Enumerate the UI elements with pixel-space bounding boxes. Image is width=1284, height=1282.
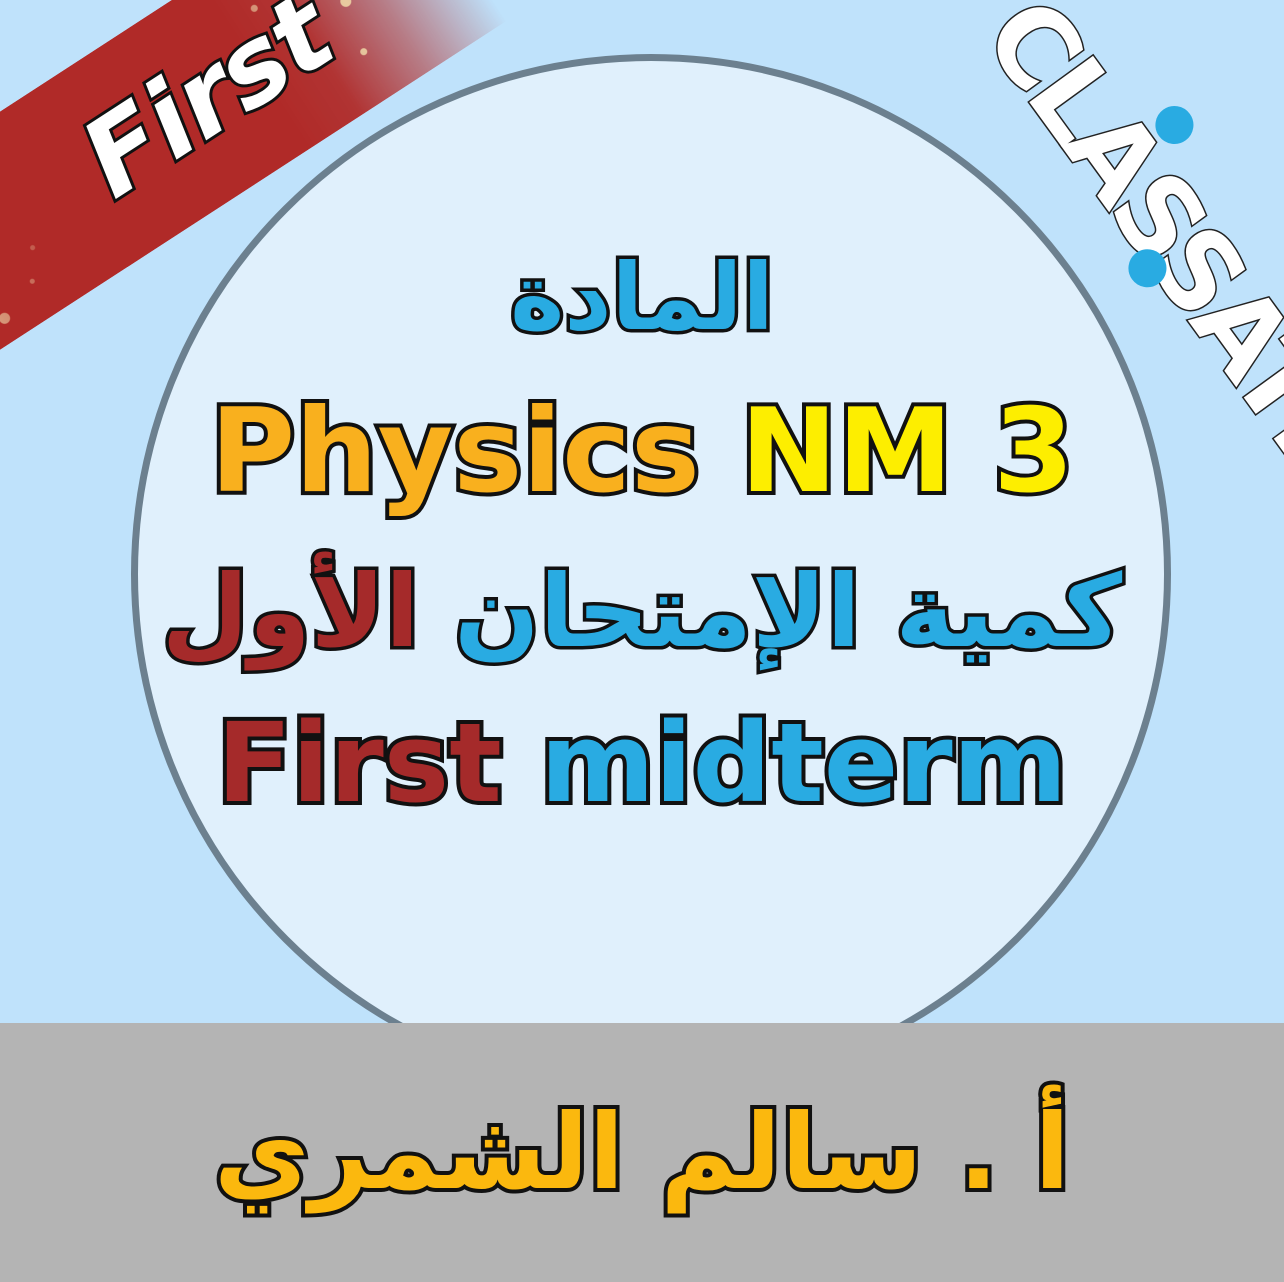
exam-cover-poster: First CLASSATK المادة Physics NM 3 كمية … — [0, 0, 1284, 1282]
exam-scope-arabic: كمية الإمتحان الأول — [162, 558, 1122, 666]
course-name: Physics — [210, 384, 700, 519]
subject-label: المادة — [510, 248, 774, 347]
exam-scope-ordinal: الأول — [162, 553, 420, 670]
exam-title-latin: First midterm — [217, 704, 1068, 823]
teacher-name: أ . سالم الشمري — [214, 1093, 1070, 1213]
poster-content: المادة Physics NM 3 كمية الإمتحان الأول … — [0, 0, 1284, 1023]
course-code: NM 3 — [740, 384, 1074, 519]
course-title: Physics NM 3 — [210, 389, 1074, 514]
exam-ordinal: First — [217, 699, 502, 827]
teacher-section: أ . سالم الشمري — [0, 1023, 1284, 1282]
exam-scope-prefix: كمية الإمتحان — [454, 553, 1122, 670]
exam-name: midterm — [540, 699, 1067, 827]
